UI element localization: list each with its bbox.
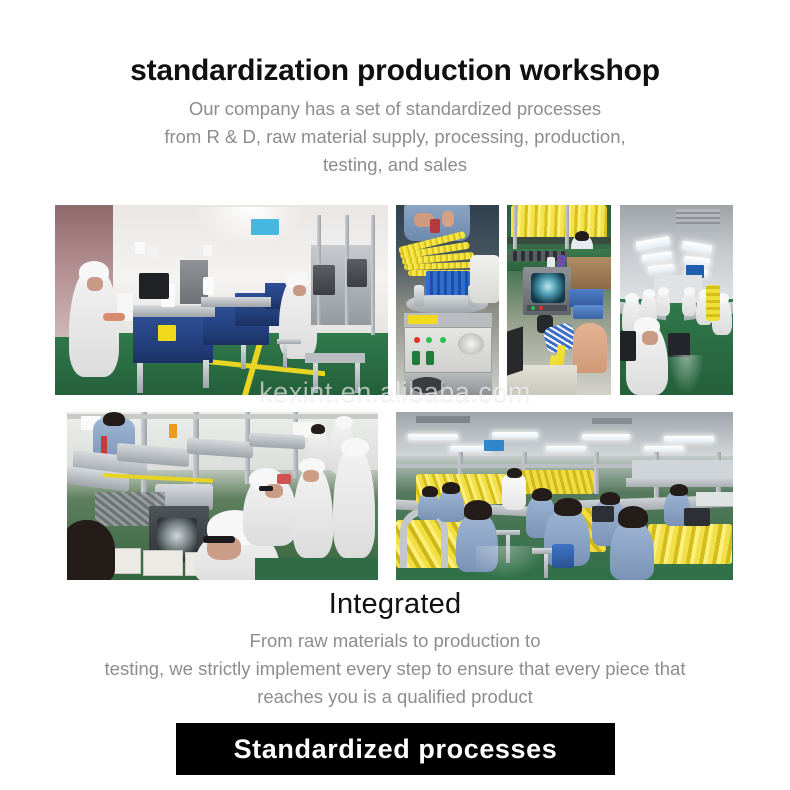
header-subtitle-line-3: testing, and sales (0, 151, 790, 179)
standardized-processes-banner: Standardized processes (176, 723, 615, 775)
banner-label: Standardized processes (234, 734, 558, 765)
lower-subtitle-line-1: From raw materials to production to (0, 627, 790, 655)
lower-subtitle: From raw materials to production to test… (0, 627, 790, 711)
integrated-title: Integrated (0, 588, 790, 621)
page-title: standardization production workshop (0, 55, 790, 87)
lower-subtitle-line-2: testing, we strictly implement every ste… (0, 655, 790, 683)
header-subtitle-line-1: Our company has a set of standardized pr… (0, 95, 790, 123)
photo-tray-assembly-bench[interactable] (67, 412, 378, 580)
photo-assembly-line-wide[interactable] (55, 205, 388, 395)
header-block: standardization production workshop Our … (0, 0, 790, 179)
photo-inspection-hall[interactable] (620, 205, 733, 395)
lower-subtitle-line-3: reaches you is a qualified product (0, 683, 790, 711)
photo-fiber-fanout-machine[interactable] (396, 205, 499, 395)
photo-microscope-inspection[interactable] (507, 205, 611, 395)
promo-page: standardization production workshop Our … (0, 0, 790, 790)
header-subtitle: Our company has a set of standardized pr… (0, 95, 790, 179)
photo-patchcord-workshop[interactable] (396, 412, 733, 580)
lower-block: Integrated From raw materials to product… (0, 588, 790, 711)
header-subtitle-line-2: from R & D, raw material supply, process… (0, 123, 790, 151)
